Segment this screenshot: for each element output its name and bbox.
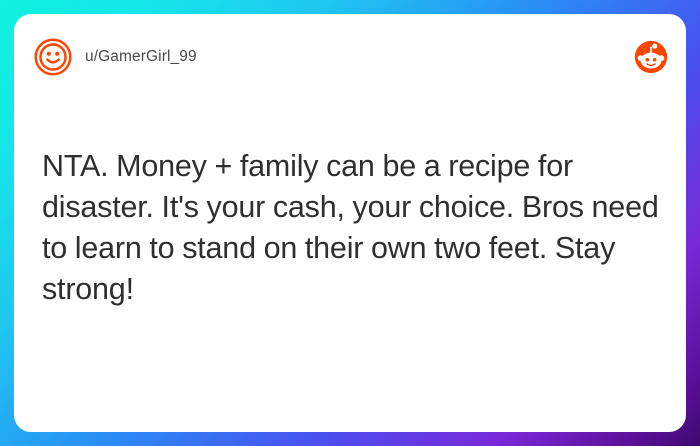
author-block[interactable]: u/GamerGirl_99 (34, 38, 197, 76)
comment-text: NTA. Money + family can be a recipe for … (42, 146, 664, 310)
comment-header: u/GamerGirl_99 (14, 14, 686, 100)
author-username: u/GamerGirl_99 (85, 49, 197, 65)
screen: u/GamerGirl_99 (0, 0, 700, 446)
smiley-face-icon (34, 38, 72, 76)
reddit-comment-card: u/GamerGirl_99 (14, 14, 686, 432)
reddit-snoo-icon[interactable] (634, 40, 668, 74)
